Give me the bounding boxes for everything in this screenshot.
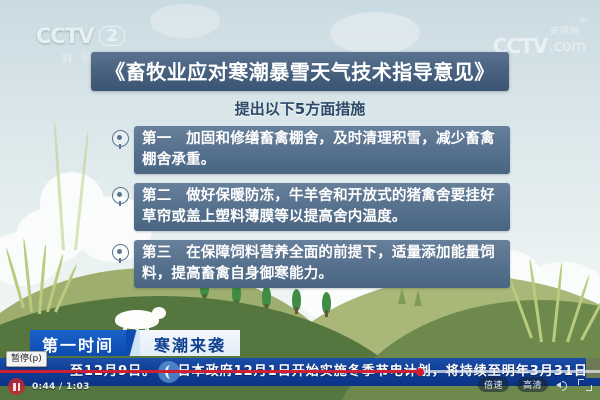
picture-in-picture-icon[interactable] [573,10,590,25]
headline-block: 《畜牧业应对寒潮暴雪天气技术指导意见》 提出以下5方面措施 [0,52,600,119]
cctv-wordmark: CCTV [36,24,93,48]
video-frame[interactable]: CCTV 2 财经 CCTV .com 央视网 《畜牧业应对寒潮暴雪天气技术指导… [0,0,600,400]
frame-edge [586,358,600,378]
list-item-text: 第一 加固和修缮畜禽棚舍，及时清理积雪，减少畜禽棚舍承重。 [134,126,510,174]
location-pin-icon [112,130,129,147]
subheadline: 提出以下5方面措施 [0,98,600,119]
list-item: 第一 加固和修缮畜禽棚舍，及时清理积雪，减少畜禽棚舍承重。 [112,126,510,174]
video-player[interactable]: CCTV 2 财经 CCTV .com 央视网 《畜牧业应对寒潮暴雪天气技术指导… [0,0,600,400]
timecode-label: 0:44 / 1:03 [32,382,90,392]
pause-tooltip: 暂停(p) [6,351,47,367]
progress-fill [0,370,420,373]
page-title: 《畜牧业应对寒潮暴雪天气技术指导意见》 [91,52,509,91]
sheep-illustration [115,310,159,329]
list-item: 第二 做好保暖防冻，牛羊舍和开放式的猪禽舍要挂好草帘或盖上塑料薄膜等以提高舍内温… [112,183,510,231]
lower-third: 第一时间 寒潮来袭 [30,330,240,356]
location-pin-icon [112,187,129,204]
volume-icon[interactable] [556,378,570,392]
channel-number: 2 [99,26,125,46]
player-controls-right: 倍速 高清 [478,377,592,392]
list-item-text: 第三 在保障饲料营养全面的前提下，适量添加能量饲料，提高畜禽自身御寒能力。 [134,240,510,288]
lower-third-divider [126,330,140,356]
quality-button[interactable]: 高清 [517,377,548,392]
playback-speed-button[interactable]: 倍速 [478,377,509,392]
measures-list: 第一 加固和修缮畜禽棚舍，及时清理积雪，减少畜禽棚舍承重。 第二 做好保暖防冻，… [112,126,510,297]
topic-name: 寒潮来袭 [140,330,240,356]
player-controls-left: 0:44 / 1:03 [8,378,90,395]
watermark-chinese: 央视网 [550,24,580,37]
list-item: 第三 在保障饲料营养全面的前提下，适量添加能量饲料，提高畜禽自身御寒能力。 [112,240,510,288]
progress-bar[interactable] [0,370,600,373]
location-pin-icon [112,244,129,261]
fullscreen-icon[interactable] [578,378,592,392]
pause-icon[interactable] [8,378,25,395]
progress-handle[interactable] [416,368,424,376]
list-item-text: 第二 做好保暖防冻，牛羊舍和开放式的猪禽舍要挂好草帘或盖上塑料薄膜等以提高舍内温… [134,183,510,231]
